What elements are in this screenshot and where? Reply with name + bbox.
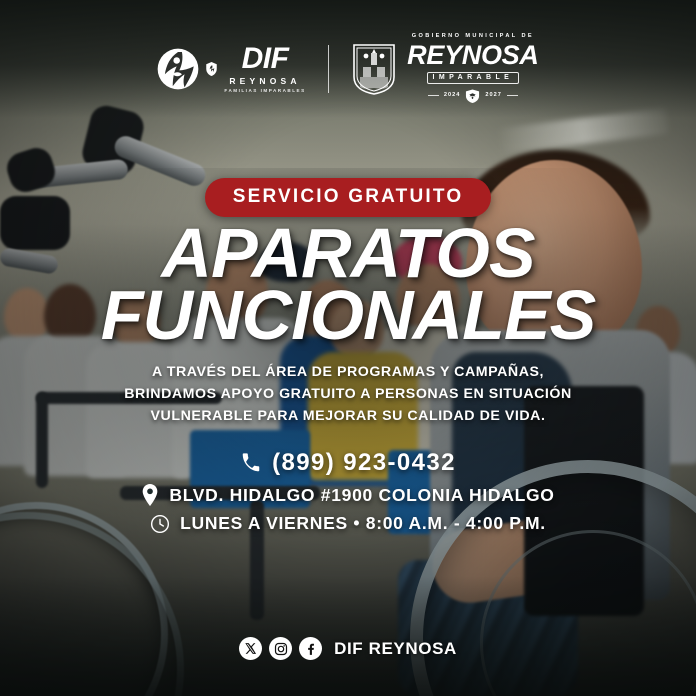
dif-shield-icon [206,62,217,76]
dif-family-icon [157,48,199,90]
clock-icon [150,514,170,534]
description-text: A TRAVÉS DEL ÁREA DE PROGRAMAS Y CAMPAÑA… [124,361,572,427]
map-pin-icon [141,484,159,506]
phone-icon [240,452,262,474]
logo-divider [328,45,330,93]
footer-social-bar: DIF REYNOSA [0,637,696,660]
term-start-year: 2024 [444,93,460,99]
reynosa-wordmark: REYNOSA [407,42,538,69]
contact-hours-row[interactable]: LUNES A VIERNES • 8:00 A.M. - 4:00 P.M. [150,513,546,534]
page-title: APARATOS FUNCIONALES [101,223,596,345]
address-text: BLVD. HIDALGO #1900 COLONIA HIDALGO [169,485,554,506]
poster-canvas: DIF REYNOSA FAMILIAS IMPARABLES GOBIERNO… [0,0,696,696]
term-end-year: 2027 [485,93,501,99]
reynosa-coat-of-arms-icon [351,43,397,95]
contact-phone-row[interactable]: (899) 923-0432 [240,449,456,477]
social-handle: DIF REYNOSA [334,639,457,659]
description-line-3: VULNERABLE PARA MEJORAR SU CALIDAD DE VI… [124,405,572,427]
dif-logo: DIF REYNOSA FAMILIAS IMPARABLES [157,44,305,93]
dif-wordmark: DIF [242,44,289,74]
reynosa-term-dates: 2024 2027 [428,88,518,104]
description-line-1: A TRAVÉS DEL ÁREA DE PROGRAMAS Y CAMPAÑA… [124,361,572,383]
dif-tagline: FAMILIAS IMPARABLES [224,89,305,94]
header-logo-bar: DIF REYNOSA FAMILIAS IMPARABLES GOBIERNO… [0,34,696,104]
instagram-icon[interactable] [269,637,292,660]
hours-text: LUNES A VIERNES • 8:00 A.M. - 4:00 P.M. [180,513,546,534]
title-line-1: APARATOS [101,223,596,283]
eagle-emblem-icon [465,88,480,104]
facebook-icon[interactable] [299,637,322,660]
main-content: SERVICIO GRATUITO APARATOS FUNCIONALES A… [0,178,696,534]
contact-address-row[interactable]: BLVD. HIDALGO #1900 COLONIA HIDALGO [141,484,554,506]
reynosa-top-line: GOBIERNO MUNICIPAL DE [412,34,534,40]
description-line-2: BRINDAMOS APOYO GRATUITO A PERSONAS EN S… [124,383,572,405]
reynosa-imparable-label: IMPARABLE [427,72,520,84]
x-twitter-icon[interactable] [239,637,262,660]
reynosa-logo: GOBIERNO MUNICIPAL DE REYNOSA IMPARABLE … [351,34,538,104]
contact-block: (899) 923-0432 BLVD. HIDALGO #1900 COLON… [141,449,554,534]
phone-number: (899) 923-0432 [272,449,456,477]
status-badge: SERVICIO GRATUITO [205,178,492,217]
dif-subtitle: REYNOSA [229,77,300,86]
title-line-2: FUNCIONALES [101,285,596,345]
